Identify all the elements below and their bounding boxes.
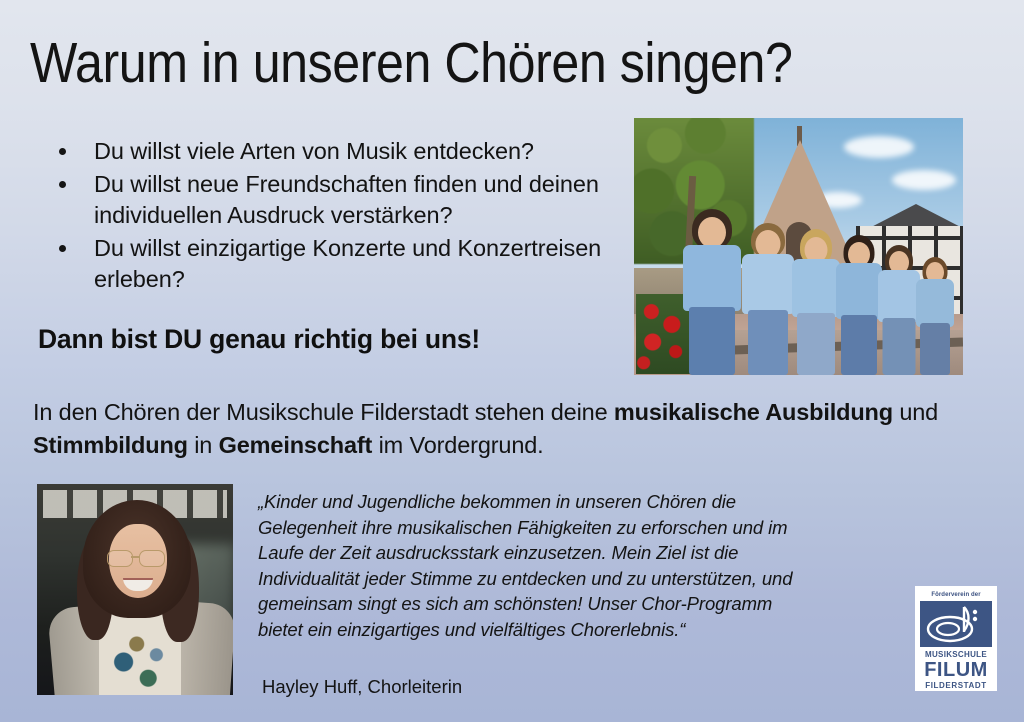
logo-line-filum: FILUM bbox=[920, 660, 992, 681]
callout-text: Dann bist DU genau richtig bei uns! bbox=[38, 322, 480, 356]
bullet-dot-icon bbox=[59, 245, 66, 252]
slide-canvas: Warum in unseren Chören singen? Du wills… bbox=[0, 0, 1024, 722]
list-item: Du willst viele Arten von Musik entdecke… bbox=[52, 136, 632, 168]
choir-director-portrait bbox=[37, 484, 233, 695]
paragraph-bold-2: Stimmbildung bbox=[33, 432, 188, 458]
photo-choir-member bbox=[740, 219, 796, 375]
filum-logo: Förderverein der MUSIKSCHULE FILUM FILDE… bbox=[915, 586, 997, 691]
bullet-dot-icon bbox=[59, 148, 66, 155]
photo-choir-member bbox=[914, 245, 956, 375]
list-item-label: Du willst viele Arten von Musik entdecke… bbox=[94, 138, 534, 164]
paragraph-part-2: und bbox=[893, 399, 938, 425]
logo-line-filderstadt: FILDERSTADT bbox=[920, 681, 992, 691]
paragraph-bold-3: Gemeinschaft bbox=[219, 432, 373, 458]
glasses-icon bbox=[107, 550, 133, 567]
glasses-icon bbox=[139, 550, 165, 567]
director-quote: „Kinder und Jugendliche bekommen in unse… bbox=[258, 489, 818, 643]
glasses-bridge-icon bbox=[131, 556, 140, 558]
paragraph-bold-1: musikalische Ausbildung bbox=[614, 399, 893, 425]
paragraph-part-4: im Vordergrund. bbox=[372, 432, 543, 458]
logo-top-line: Förderverein der bbox=[920, 591, 992, 599]
list-item: Du willst neue Freundschaften finden und… bbox=[52, 169, 632, 232]
benefits-list: Du willst viele Arten von Musik entdecke… bbox=[52, 136, 632, 297]
list-item-label: Du willst neue Freundschaften finden und… bbox=[94, 171, 599, 229]
page-title: Warum in unseren Chören singen? bbox=[30, 32, 884, 94]
bullet-dot-icon bbox=[59, 181, 66, 188]
photo-choir-member bbox=[680, 209, 744, 375]
paragraph-part-3: in bbox=[188, 432, 219, 458]
choir-group-photo bbox=[634, 118, 963, 375]
treble-clef-spiral-icon bbox=[920, 601, 992, 647]
intro-paragraph: In den Chören der Musikschule Filderstad… bbox=[33, 396, 998, 462]
photo-cloud bbox=[892, 170, 956, 190]
paragraph-part-1: In den Chören der Musikschule Filderstad… bbox=[33, 399, 614, 425]
quote-attribution: Hayley Huff, Chorleiterin bbox=[262, 675, 462, 699]
list-item-label: Du willst einzigartige Konzerte und Konz… bbox=[94, 235, 601, 293]
list-item: Du willst einzigartige Konzerte und Konz… bbox=[52, 233, 632, 296]
